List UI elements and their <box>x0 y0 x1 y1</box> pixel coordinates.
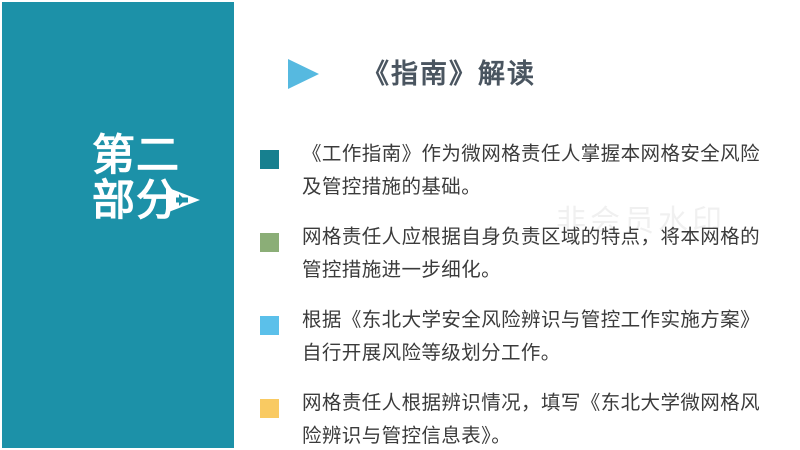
bullet-marker-4 <box>260 399 279 418</box>
bullet-text-1: 《工作指南》作为微网格责任人掌握本网格安全风险及管控措施的基础。 <box>302 138 760 204</box>
section-label: 第二 部分 <box>2 134 180 224</box>
content-area: 非会员水印 《指南》解读 《工作指南》作为微网格责任人掌握本网格安全风险及管控措… <box>234 0 800 450</box>
section-label-line-2: 部分 <box>2 179 180 224</box>
list-item: 《工作指南》作为微网格责任人掌握本网格安全风险及管控措施的基础。 <box>260 138 780 204</box>
section-label-line-1: 第二 <box>2 134 180 179</box>
bullet-list: 《工作指南》作为微网格责任人掌握本网格安全风险及管控措施的基础。 网格责任人应根… <box>260 138 780 450</box>
page-title: 《指南》解读 <box>362 58 536 90</box>
bullet-marker-1 <box>260 150 279 169</box>
list-item: 根据《东北大学安全风险辨识与管控工作实施方案》自行开展风险等级划分工作。 <box>260 304 780 370</box>
slide: 第二 部分 非会员水印 《指南》解读 《工作指南》作为微网格责任人掌握本网格安全… <box>0 0 800 450</box>
play-triangle-icon <box>286 58 320 90</box>
title-row: 《指南》解读 <box>286 58 536 90</box>
section-panel: 第二 部分 <box>2 2 234 448</box>
list-item: 网格责任人应根据自身负责区域的特点，将本网格的管控措施进一步细化。 <box>260 221 780 287</box>
bullet-marker-3 <box>260 316 279 335</box>
bullet-text-3: 根据《东北大学安全风险辨识与管控工作实施方案》自行开展风险等级划分工作。 <box>302 304 760 370</box>
bullet-text-4: 网格责任人根据辨识情况，填写《东北大学微网格风险辨识与管控信息表》。 <box>302 387 760 450</box>
bullet-marker-2 <box>260 233 279 252</box>
bullet-text-2: 网格责任人应根据自身负责区域的特点，将本网格的管控措施进一步细化。 <box>302 221 760 287</box>
double-arrow-icon <box>162 180 202 220</box>
list-item: 网格责任人根据辨识情况，填写《东北大学微网格风险辨识与管控信息表》。 <box>260 387 780 450</box>
